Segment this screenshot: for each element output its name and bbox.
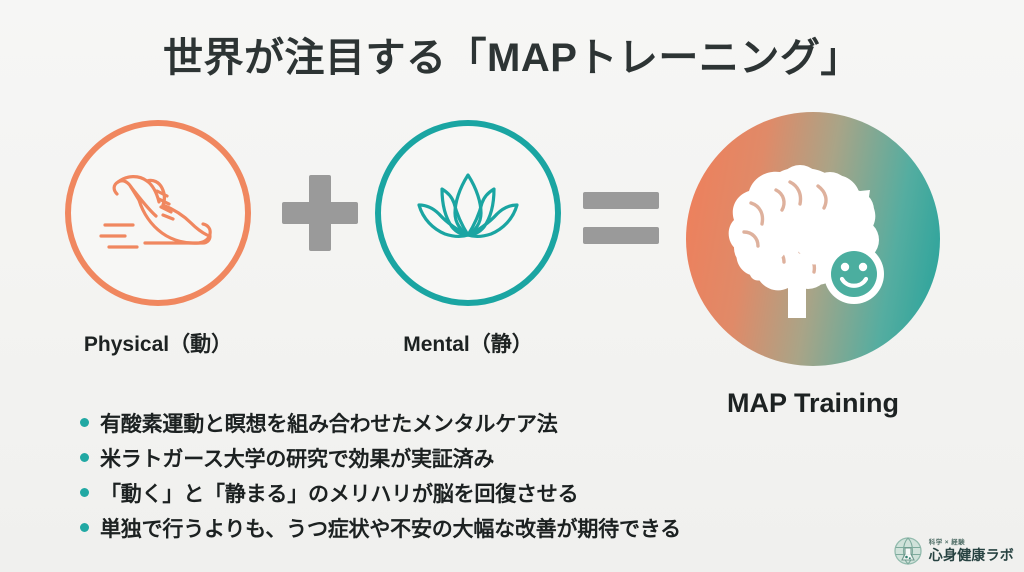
list-item: 単独で行うよりも、うつ症状や不安の大幅な改善が期待できる: [80, 510, 720, 545]
plus-bar-vertical: [309, 175, 331, 251]
bullet-dot-icon: [80, 523, 89, 532]
lab-globe-icon: [893, 536, 923, 566]
equals-icon: [583, 192, 659, 244]
list-item: 有酸素運動と瞑想を組み合わせたメンタルケア法: [80, 405, 720, 440]
physical-circle: [65, 120, 251, 306]
list-item-label: 「動く」と「静まる」のメリハリが脳を回復させる: [100, 478, 578, 508]
physical-label: Physical（動）: [63, 328, 253, 358]
infographic-slide: 世界が注目する「MAPトレーニング」: [0, 0, 1024, 572]
equation-term-mental: Mental（静）: [373, 120, 563, 358]
equation-term-result: MAP Training: [678, 112, 948, 419]
equals-bar-top: [583, 192, 659, 209]
equation-term-physical: Physical（動）: [63, 120, 253, 358]
equation-row: Physical（動）: [0, 120, 1024, 390]
logo-tagline: 科学 × 経験: [929, 540, 1014, 547]
list-item: 米ラトガース大学の研究で効果が実証済み: [80, 440, 720, 475]
benefit-list: 有酸素運動と瞑想を組み合わせたメンタルケア法 米ラトガース大学の研究で効果が実証…: [80, 405, 720, 545]
plus-icon: [282, 175, 358, 251]
logo-name: 心身健康ラボ: [929, 548, 1014, 562]
mental-circle: [375, 120, 561, 306]
brain-growth-smiley-icon: [718, 148, 908, 331]
list-item-label: 単独で行うよりも、うつ症状や不安の大幅な改善が期待できる: [100, 513, 681, 543]
running-shoe-icon: [99, 163, 217, 264]
bullet-dot-icon: [80, 453, 89, 462]
bullet-dot-icon: [80, 418, 89, 427]
list-item-label: 米ラトガース大学の研究で効果が実証済み: [100, 443, 494, 473]
result-gradient-circle: [686, 112, 940, 366]
brand-logo: 科学 × 経験 心身健康ラボ: [893, 536, 1014, 566]
equals-bar-bottom: [583, 227, 659, 244]
logo-text-group: 科学 × 経験 心身健康ラボ: [929, 540, 1014, 563]
mental-label: Mental（静）: [373, 328, 563, 358]
bullet-dot-icon: [80, 488, 89, 497]
list-item-label: 有酸素運動と瞑想を組み合わせたメンタルケア法: [100, 408, 558, 438]
lotus-flower-icon: [407, 165, 529, 262]
list-item: 「動く」と「静まる」のメリハリが脳を回復させる: [80, 475, 720, 510]
page-title: 世界が注目する「MAPトレーニング」: [0, 34, 1024, 82]
